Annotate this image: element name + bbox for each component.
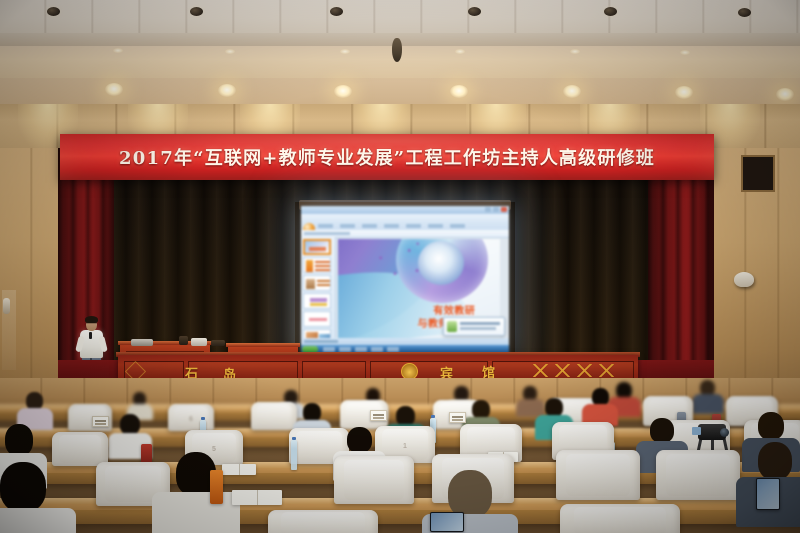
tab-home[interactable]	[318, 224, 333, 228]
water-bottle	[291, 440, 297, 470]
recessed-light-icon	[468, 7, 481, 16]
soffit-minilight-icon	[570, 49, 580, 54]
seat-number: 1	[375, 443, 435, 450]
downlight-icon	[776, 88, 794, 101]
name-placard	[92, 416, 109, 427]
soffit-minilight-icon	[113, 48, 123, 53]
stage-equipment-projector	[131, 339, 153, 346]
banner-title-text: 2017年“互联网+教师专业发展”工程工作坊主持人高级研修班	[119, 144, 655, 170]
downlight-icon	[334, 85, 352, 98]
ppt-status-bar	[301, 338, 509, 345]
chair-row5	[268, 510, 378, 533]
microphone-icon	[89, 332, 92, 339]
wall-speaker-icon	[734, 272, 754, 287]
name-placard	[449, 412, 466, 423]
projection-screen: 有效教研 与教师协同发展	[301, 206, 509, 354]
recessed-light-icon	[738, 8, 751, 17]
soffit-minilight-icon	[225, 49, 235, 54]
speaker-hair	[85, 316, 98, 323]
stage-curtain-right	[648, 148, 714, 374]
camera-screen	[692, 427, 701, 435]
chair-row3	[52, 432, 108, 466]
smartphone[interactable]	[430, 512, 464, 532]
ppt-ribbon[interactable]	[301, 214, 509, 231]
tab-insert[interactable]	[340, 224, 355, 228]
wall-vent-opening	[741, 155, 775, 192]
notebook	[232, 490, 282, 505]
chair-row2: 6	[168, 404, 214, 431]
slide-thumbnail-1[interactable]	[303, 239, 331, 255]
slide-thumbnail-5[interactable]	[303, 311, 331, 327]
soffit-minilight-icon	[340, 49, 350, 54]
slide-thumbnail-4[interactable]	[303, 293, 331, 309]
stage-equipment-box	[179, 336, 188, 345]
conference-hall-photo: 2017年“互联网+教师专业发展”工程工作坊主持人高级研修班	[0, 0, 800, 533]
document-name-text	[304, 232, 350, 235]
toast-icon	[447, 321, 457, 332]
ppt-slide-thumbnail-pane[interactable]	[301, 237, 336, 346]
tab-design[interactable]	[362, 224, 377, 228]
soffit-minilight-icon	[680, 50, 690, 55]
downlight-icon	[218, 84, 236, 97]
downlight-icon	[563, 85, 581, 98]
chair-row4	[556, 450, 640, 500]
notebook	[222, 464, 256, 475]
recessed-light-icon	[604, 7, 617, 16]
tab-view[interactable]	[450, 224, 465, 228]
recessed-light-icon	[190, 7, 203, 16]
toast-line-1	[460, 322, 500, 325]
downlight-icon	[675, 86, 693, 99]
camera-lens-icon	[720, 428, 729, 437]
maximize-icon[interactable]	[493, 207, 499, 212]
tab-slideshow[interactable]	[406, 224, 421, 228]
seat-number: 6	[168, 416, 214, 423]
minimize-icon[interactable]	[485, 207, 491, 212]
close-icon[interactable]	[501, 207, 507, 212]
podium-zigzag-ornament	[530, 364, 620, 377]
left-side-wall	[0, 148, 58, 416]
toast-line-2	[460, 327, 496, 330]
hanging-speaker-icon	[392, 38, 402, 62]
slide-thumbnail-3[interactable]	[303, 275, 331, 291]
event-banner: 2017年“互联网+教师专业发展”工程工作坊主持人高级研修班	[60, 134, 714, 180]
soffit-minilight-icon	[455, 49, 465, 54]
recessed-light-icon	[47, 7, 60, 16]
notification-toast[interactable]	[443, 317, 505, 336]
door-handle-icon	[3, 298, 10, 314]
chair-row2	[251, 402, 297, 430]
window-controls[interactable]	[485, 207, 507, 212]
ceiling-panel-upper	[0, 0, 800, 34]
stage-equipment-unit	[211, 340, 225, 346]
downlight-icon	[450, 85, 468, 98]
ppt-title-bar	[301, 206, 509, 214]
chair-row4	[334, 456, 414, 504]
stage-equipment-laptop	[191, 338, 207, 346]
tab-review[interactable]	[428, 224, 443, 228]
name-placard	[370, 410, 387, 421]
chair-row4	[656, 450, 740, 500]
tumbler-cup	[210, 470, 223, 504]
downlight-icon	[105, 83, 123, 96]
recessed-light-icon	[330, 7, 343, 16]
ppt-ribbon-tabs[interactable]	[318, 224, 465, 228]
smartphone[interactable]	[756, 478, 780, 510]
tab-animations[interactable]	[384, 224, 399, 228]
chair-row5	[560, 504, 680, 533]
slide-thumbnail-2[interactable]	[303, 257, 331, 273]
